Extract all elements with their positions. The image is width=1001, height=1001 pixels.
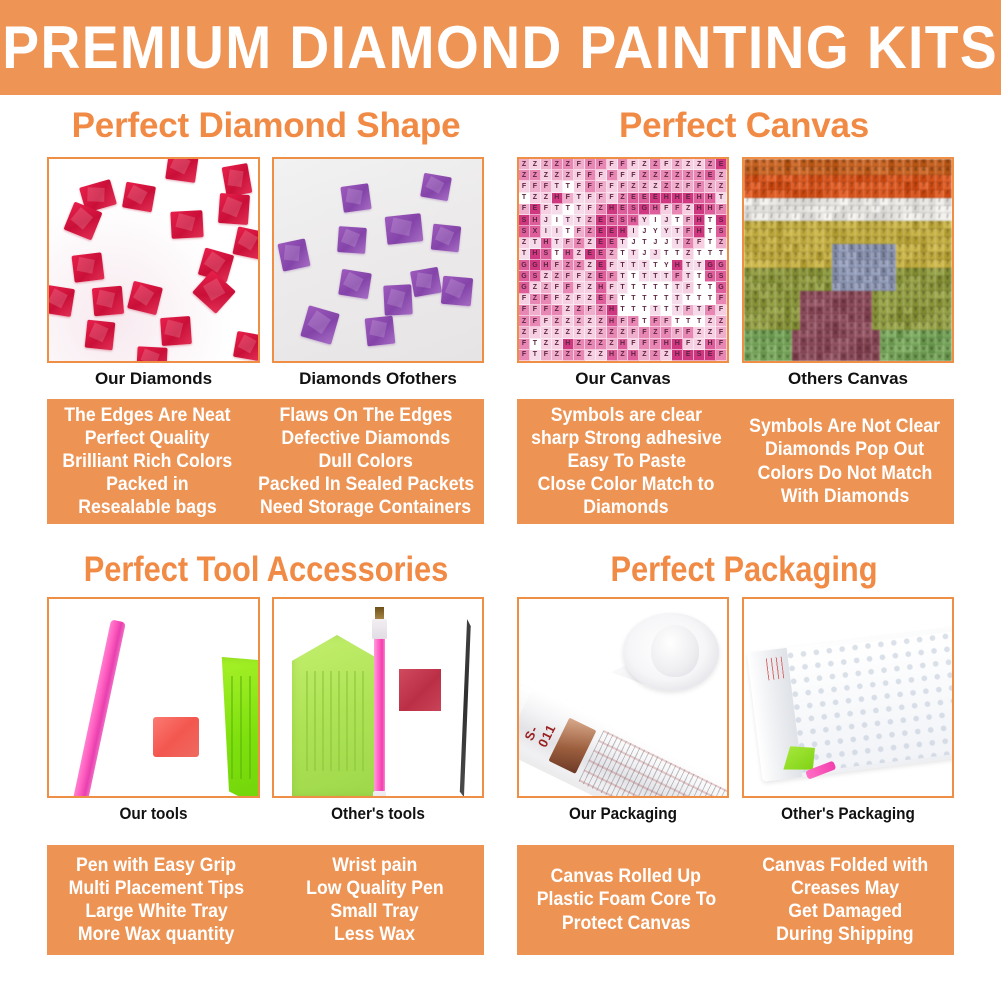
canvas-cell: x [848, 345, 856, 353]
canvas-cell: H [661, 339, 672, 350]
canvas-cell: ? [760, 260, 768, 268]
canvas-cell: 1 [840, 244, 848, 252]
canvas-cell: ? [792, 229, 800, 237]
canvas-cell: ? [936, 260, 944, 268]
panel-line: Defective Diamonds [281, 427, 450, 450]
canvas-cell: 7 [864, 190, 872, 198]
canvas-cell: x [864, 307, 872, 315]
panel-line: sharp Strong adhesive [531, 427, 722, 450]
canvas-cell: v [768, 330, 776, 338]
canvas-cell: / [936, 198, 944, 206]
canvas-cell: Y [920, 314, 928, 322]
canvas-cell: 1 [880, 283, 888, 291]
canvas-cell: Z [705, 159, 716, 170]
canvas-cell: Z [574, 249, 585, 260]
canvas-cell: Y [912, 291, 920, 299]
canvas-cell: x [808, 338, 816, 346]
canvas-cell: / [760, 198, 768, 206]
canvas-cell: x [816, 314, 824, 322]
canvas-cell: ? [792, 244, 800, 252]
canvas-cell: Y [752, 276, 760, 284]
canvas-cell: Z [563, 316, 574, 327]
canvas-cell: / [848, 213, 856, 221]
canvas-cell: T [574, 215, 585, 226]
canvas-cell: Z [585, 327, 596, 338]
canvas-cell: F [596, 159, 607, 170]
canvas-cell: Y [792, 283, 800, 291]
canvas-cell: Y [888, 291, 896, 299]
canvas-cell: x [872, 345, 880, 353]
canvas-cell: 1 [888, 260, 896, 268]
canvas-cell: 7 [784, 175, 792, 183]
canvas-cell: T [683, 316, 694, 327]
panel-col-others: Flaws On The Edges Defective Diamonds Du… [248, 399, 484, 524]
canvas-cell: x [832, 353, 840, 361]
canvas-cell: F [650, 316, 661, 327]
canvas-cell: x [824, 338, 832, 346]
canvas-cell: v [920, 338, 928, 346]
canvas-cell: 7 [832, 175, 840, 183]
canvas-cell: ? [744, 221, 752, 229]
canvas-cell: 1 [864, 276, 872, 284]
canvas-cell: ? [928, 229, 936, 237]
canvas-cell: Y [824, 283, 832, 291]
canvas-cell: Z [541, 327, 552, 338]
canvas-cell: x [856, 291, 864, 299]
canvas-cell: T [694, 249, 705, 260]
canvas-cell: 7 [744, 175, 752, 183]
canvas-cell: F [683, 181, 694, 192]
canvas-cell: x [832, 345, 840, 353]
canvas-cell: / [904, 213, 912, 221]
canvas-cell: F [716, 339, 727, 350]
canvas-cell: / [776, 213, 784, 221]
canvas-cell: F [552, 294, 563, 305]
canvas-cell: 4 [792, 167, 800, 175]
canvas-cell: F [585, 181, 596, 192]
canvas-cell: v [744, 345, 752, 353]
canvas-cell: x [848, 330, 856, 338]
panel-line: Protect Canvas [562, 912, 691, 935]
canvas-cell: ? [832, 237, 840, 245]
canvas-cell: F [519, 339, 530, 350]
canvas-cell: 4 [944, 167, 952, 175]
canvas-cell: ? [936, 229, 944, 237]
canvas-cell: T [661, 282, 672, 293]
canvas-cell: ? [808, 244, 816, 252]
canvas-cell: ? [816, 237, 824, 245]
canvas-cell: T [552, 238, 563, 249]
panel-line: Dull Colors [319, 450, 413, 473]
canvas-cell: Z [563, 294, 574, 305]
caption-other-diamonds: Diamonds Ofothers [272, 370, 484, 387]
canvas-cell: / [848, 198, 856, 206]
canvas-cell: ? [896, 244, 904, 252]
canvas-cell: / [864, 213, 872, 221]
canvas-cell: H [607, 305, 618, 316]
canvas-cell: Z [618, 327, 629, 338]
canvas-cell: / [792, 198, 800, 206]
canvas-cell: x [824, 353, 832, 361]
canvas-cell: x [856, 314, 864, 322]
canvas-cell: v [760, 330, 768, 338]
canvas-cell: Z [574, 316, 585, 327]
canvas-cell: x [816, 330, 824, 338]
canvas-cell: Y [888, 322, 896, 330]
canvas-cell: 7 [744, 182, 752, 190]
canvas-cell: Z [683, 238, 694, 249]
canvas-cell: / [904, 198, 912, 206]
canvas-cell: F [607, 159, 618, 170]
canvas-cell: Y [768, 322, 776, 330]
canvas-cell: ? [760, 244, 768, 252]
canvas-cell: J [650, 249, 661, 260]
canvas-cell: x [856, 322, 864, 330]
canvas-cell: x [856, 338, 864, 346]
canvas-cell: Y [760, 268, 768, 276]
canvas-cell: x [872, 338, 880, 346]
caption-our-packaging: Our Packaging [528, 805, 719, 822]
canvas-cell: 4 [864, 159, 872, 167]
canvas-cell: v [768, 338, 776, 346]
canvas-cell: Z [683, 170, 694, 181]
canvas-cell: v [752, 345, 760, 353]
canvas-cell: / [856, 198, 864, 206]
canvas-cell: H [541, 238, 552, 249]
canvas-cell: Z [683, 249, 694, 260]
canvas-cell: ? [936, 221, 944, 229]
canvas-cell: 7 [872, 190, 880, 198]
canvas-cell: v [936, 330, 944, 338]
canvas-cell: / [896, 198, 904, 206]
canvas-cell: 7 [752, 175, 760, 183]
canvas-cell: 4 [808, 159, 816, 167]
canvas-cell: x [840, 345, 848, 353]
canvas-cell: T [672, 215, 683, 226]
canvas-cell: / [880, 198, 888, 206]
canvas-cell: Y [920, 307, 928, 315]
section-title-tools: Perfect Tool Accessories [64, 552, 469, 587]
canvas-cell: ? [816, 260, 824, 268]
canvas-cell: 1 [864, 244, 872, 252]
canvas-cell: 7 [832, 190, 840, 198]
canvas-cell: Z [585, 238, 596, 249]
canvas-cell: Z [585, 271, 596, 282]
canvas-cell: F [530, 305, 541, 316]
photo-other-canvas: 4444444444444444444444444444444444444444… [742, 157, 954, 363]
canvas-cell: Z [716, 181, 727, 192]
canvas-cell: T [552, 181, 563, 192]
canvas-cell: / [848, 206, 856, 214]
canvas-cell: ? [896, 252, 904, 260]
canvas-cell: Z [683, 159, 694, 170]
canvas-cell: Y [792, 268, 800, 276]
canvas-cell: v [920, 353, 928, 361]
canvas-cell: T [530, 238, 541, 249]
canvas-cell: E [705, 350, 716, 361]
canvas-cell: Z [574, 339, 585, 350]
canvas-cell: / [816, 198, 824, 206]
canvas-cell: Z [661, 350, 672, 361]
canvas-cell: T [618, 294, 629, 305]
canvas-cell: x [824, 345, 832, 353]
caption-our-diamonds: Our Diamonds [47, 370, 260, 387]
canvas-cell: ? [824, 260, 832, 268]
canvas-cell: 4 [912, 167, 920, 175]
canvas-cell: 1 [880, 252, 888, 260]
canvas-cell: 1 [848, 244, 856, 252]
canvas-cell: ? [904, 244, 912, 252]
canvas-cell: / [760, 213, 768, 221]
canvas-cell: T [672, 316, 683, 327]
canvas-cell: ? [808, 252, 816, 260]
canvas-cell: x [848, 322, 856, 330]
canvas-cell: T [650, 305, 661, 316]
canvas-cell: Z [705, 181, 716, 192]
canvas-cell: 1 [872, 276, 880, 284]
canvas-cell: F [607, 170, 618, 181]
canvas-cell: v [784, 345, 792, 353]
canvas-cell: F [607, 260, 618, 271]
canvas-cell: Z [541, 193, 552, 204]
canvas-cell: Y [824, 276, 832, 284]
canvas-cell: Y [936, 307, 944, 315]
canvas-cell: ? [912, 237, 920, 245]
canvas-cell: Z [607, 339, 618, 350]
canvas-cell: Z [552, 327, 563, 338]
canvas-cell: ? [848, 237, 856, 245]
canvas-cell: F [661, 204, 672, 215]
purple-diamonds-art [274, 159, 482, 361]
canvas-cell: ? [944, 229, 952, 237]
canvas-cell: 7 [896, 175, 904, 183]
canvas-cell: ? [800, 252, 808, 260]
canvas-cell: x [800, 314, 808, 322]
canvas-cell: T [694, 294, 705, 305]
canvas-cell: Z [530, 170, 541, 181]
canvas-cell: T [519, 249, 530, 260]
canvas-cell: Y [792, 314, 800, 322]
canvas-cell: Y [661, 226, 672, 237]
canvas-cell: T [530, 339, 541, 350]
canvas-cell: E [596, 226, 607, 237]
canvas-cell: ? [816, 221, 824, 229]
panel-diamond-shape: The Edges Are Neat Perfect Quality Brill… [47, 399, 484, 524]
canvas-cell: T [639, 238, 650, 249]
canvas-cell: ? [768, 221, 776, 229]
canvas-cell: / [824, 213, 832, 221]
canvas-cell: v [896, 338, 904, 346]
canvas-cell: F [694, 238, 705, 249]
canvas-cell: H [705, 339, 716, 350]
canvas-cell: ? [936, 237, 944, 245]
canvas-cell: x [808, 314, 816, 322]
canvas-cell: G [519, 260, 530, 271]
canvas-cell: Y [768, 307, 776, 315]
canvas-cell: Y [920, 283, 928, 291]
canvas-cell: 1 [856, 252, 864, 260]
canvas-cell: 7 [808, 175, 816, 183]
canvas-cell: 7 [768, 182, 776, 190]
canvas-cell: Y [920, 291, 928, 299]
canvas-cell: / [912, 206, 920, 214]
canvas-cell: ? [872, 221, 880, 229]
canvas-cell: ? [808, 229, 816, 237]
canvas-cell: Z [639, 159, 650, 170]
canvas-cell: Y [896, 307, 904, 315]
panel-line: Large White Tray [85, 900, 227, 923]
canvas-cell: F [541, 316, 552, 327]
canvas-cell: ? [776, 260, 784, 268]
canvas-cell: x [848, 314, 856, 322]
canvas-cell: ? [872, 237, 880, 245]
canvas-cell: G [716, 260, 727, 271]
canvas-cell: ? [784, 221, 792, 229]
canvas-cell: x [824, 299, 832, 307]
canvas-cell: Z [530, 193, 541, 204]
canvas-cell: Z [628, 181, 639, 192]
canvas-cell: T [530, 350, 541, 361]
canvas-cell: Z [618, 350, 629, 361]
canvas-cell: F [563, 282, 574, 293]
canvas-cell: ? [840, 229, 848, 237]
canvas-cell: Z [705, 327, 716, 338]
canvas-cell: x [832, 330, 840, 338]
canvas-cell: H [541, 260, 552, 271]
canvas-cell: / [808, 198, 816, 206]
canvas-cell: S [519, 226, 530, 237]
canvas-cell: Y [920, 322, 928, 330]
canvas-cell: F [672, 271, 683, 282]
canvas-cell: / [784, 213, 792, 221]
canvas-cell: Y [944, 283, 952, 291]
canvas-cell: x [856, 299, 864, 307]
canvas-cell: ? [944, 252, 952, 260]
canvas-cell: 7 [880, 182, 888, 190]
canvas-cell: 7 [752, 190, 760, 198]
canvas-cell: 7 [920, 190, 928, 198]
canvas-cell: x [840, 330, 848, 338]
canvas-cell: Y [928, 314, 936, 322]
canvas-cell: Z [541, 159, 552, 170]
panel-line: Need Storage Containers [260, 496, 471, 519]
canvas-cell: x [864, 291, 872, 299]
canvas-cell: Z [639, 350, 650, 361]
canvas-cell: Y [768, 268, 776, 276]
canvas-cell: 7 [880, 175, 888, 183]
canvas-cell: x [848, 353, 856, 361]
canvas-cell: v [784, 353, 792, 361]
canvas-cell: H [705, 193, 716, 204]
canvas-cell: F [530, 181, 541, 192]
canvas-cell: 1 [880, 244, 888, 252]
canvas-cell: x [840, 314, 848, 322]
canvas-cell: T [563, 204, 574, 215]
canvas-cell: T [618, 260, 629, 271]
canvas-cell: Y [808, 283, 816, 291]
canvas-cell: Y [776, 322, 784, 330]
canvas-cell: F [618, 159, 629, 170]
canvas-cell: T [639, 294, 650, 305]
canvas-cell: Z [574, 260, 585, 271]
canvas-cell: 1 [888, 244, 896, 252]
canvas-cell: Z [694, 339, 705, 350]
canvas-cell: Y [936, 291, 944, 299]
canvas-cell: v [888, 330, 896, 338]
canvas-cell: 7 [856, 182, 864, 190]
canvas-cell: Z [541, 170, 552, 181]
canvas-cell: x [800, 345, 808, 353]
panel-tools: Pen with Easy Grip Multi Placement Tips … [47, 845, 484, 955]
canvas-cell: T [639, 316, 650, 327]
canvas-cell: Y [768, 314, 776, 322]
canvas-cell: T [705, 249, 716, 260]
canvas-cell: 1 [840, 276, 848, 284]
canvas-cell: 7 [792, 182, 800, 190]
canvas-cell: Y [752, 307, 760, 315]
canvas-cell: ? [752, 221, 760, 229]
canvas-cell: H [563, 339, 574, 350]
canvas-cell: x [864, 299, 872, 307]
canvas-cell: Y [912, 307, 920, 315]
canvas-cell: E [683, 350, 694, 361]
canvas-cell: ? [928, 260, 936, 268]
canvas-cell: 1 [856, 260, 864, 268]
caption-other-packaging: Other's Packaging [753, 805, 944, 822]
canvas-cell: T [639, 260, 650, 271]
canvas-cell: Z [585, 316, 596, 327]
canvas-cell: v [888, 353, 896, 361]
canvas-cell: 7 [888, 175, 896, 183]
panel-line: Perfect Quality [85, 427, 210, 450]
canvas-cell: Y [936, 276, 944, 284]
canvas-cell: 4 [800, 159, 808, 167]
canvas-cell: x [808, 322, 816, 330]
canvas-cell: F [519, 350, 530, 361]
canvas-cell: T [574, 193, 585, 204]
canvas-cell: / [912, 198, 920, 206]
canvas-cell: Z [552, 271, 563, 282]
canvas-cell: v [896, 353, 904, 361]
canvas-cell: T [694, 271, 705, 282]
canvas-cell: ? [784, 229, 792, 237]
canvas-cell: H [661, 193, 672, 204]
canvas-cell: 7 [888, 190, 896, 198]
canvas-cell: 4 [768, 159, 776, 167]
canvas-cell: T [628, 271, 639, 282]
canvas-cell: I [541, 226, 552, 237]
canvas-cell: Z [672, 170, 683, 181]
canvas-cell: E [705, 170, 716, 181]
canvas-cell: T [618, 305, 629, 316]
canvas-cell: Z [661, 181, 672, 192]
canvas-cell: x [832, 338, 840, 346]
canvas-cell: 7 [928, 182, 936, 190]
canvas-cell: Z [596, 339, 607, 350]
canvas-cell: ? [760, 252, 768, 260]
canvas-cell: / [816, 206, 824, 214]
canvas-cell: Z [596, 316, 607, 327]
canvas-cell: Z [552, 170, 563, 181]
canvas-cell: / [792, 206, 800, 214]
canvas-cell: Y [784, 299, 792, 307]
panel-line: More Wax quantity [78, 923, 234, 946]
photo-other-packaging [742, 597, 954, 798]
canvas-cell: 7 [800, 175, 808, 183]
canvas-cell: 7 [784, 182, 792, 190]
canvas-cell: ? [880, 237, 888, 245]
canvas-cell: F [716, 204, 727, 215]
